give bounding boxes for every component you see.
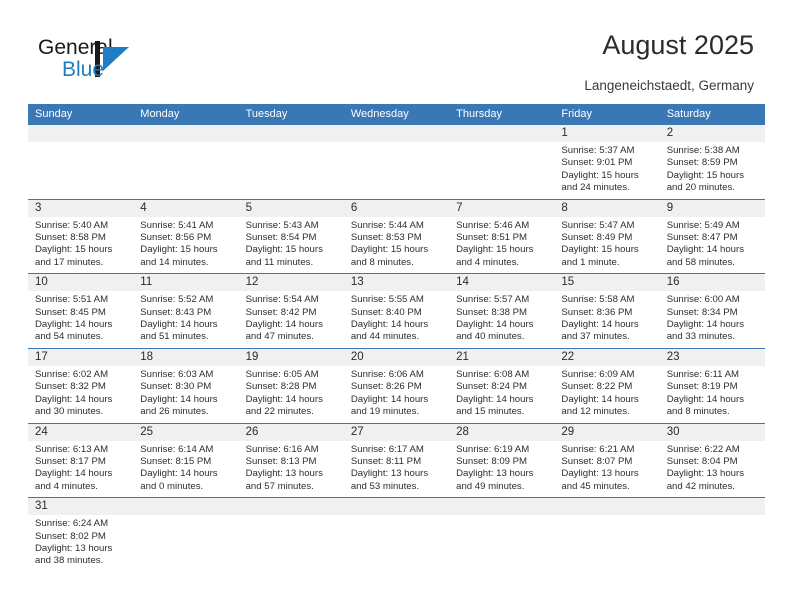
day-detail-line: Sunset: 8:40 PM [351, 307, 443, 319]
day-detail-line: Sunset: 8:04 PM [667, 456, 759, 468]
day-detail-line: Daylight: 14 hours [35, 394, 127, 406]
day-detail-line: Daylight: 14 hours [246, 394, 338, 406]
day-detail-line: Daylight: 13 hours [667, 468, 759, 480]
day-detail-line: Sunset: 8:59 PM [667, 157, 759, 169]
calendar-day-cell-empty [28, 125, 133, 199]
day-detail-line: Sunset: 8:11 PM [351, 456, 443, 468]
day-detail-line: Daylight: 14 hours [140, 468, 232, 480]
day-detail-line: and 44 minutes. [351, 331, 443, 343]
day-detail-line: Daylight: 14 hours [35, 319, 127, 331]
day-detail-line: Sunrise: 5:38 AM [667, 145, 759, 157]
day-details [133, 142, 238, 145]
day-detail-line: Sunset: 8:36 PM [561, 307, 653, 319]
day-number: 24 [28, 424, 133, 441]
calendar-day-cell[interactable]: 24Sunrise: 6:13 AMSunset: 8:17 PMDayligh… [28, 424, 133, 498]
day-detail-line: Sunset: 8:28 PM [246, 381, 338, 393]
day-details: Sunrise: 6:00 AMSunset: 8:34 PMDaylight:… [660, 291, 765, 344]
day-detail-line: Sunset: 8:19 PM [667, 381, 759, 393]
day-detail-line: Sunset: 8:54 PM [246, 232, 338, 244]
calendar-day-cell-empty [239, 498, 344, 572]
calendar-day-cell[interactable]: 13Sunrise: 5:55 AMSunset: 8:40 PMDayligh… [344, 274, 449, 348]
day-detail-line: Daylight: 15 hours [246, 244, 338, 256]
day-number [344, 498, 449, 515]
day-detail-line: Sunrise: 6:09 AM [561, 369, 653, 381]
calendar-day-cell[interactable]: 8Sunrise: 5:47 AMSunset: 8:49 PMDaylight… [554, 200, 659, 274]
day-detail-line: Daylight: 14 hours [351, 394, 443, 406]
day-number: 23 [660, 349, 765, 366]
calendar-week-row: 10Sunrise: 5:51 AMSunset: 8:45 PMDayligh… [28, 273, 765, 348]
day-number: 26 [239, 424, 344, 441]
day-detail-line: Sunset: 8:32 PM [35, 381, 127, 393]
day-details: Sunrise: 6:08 AMSunset: 8:24 PMDaylight:… [449, 366, 554, 419]
day-number: 11 [133, 274, 238, 291]
day-detail-line: and 22 minutes. [246, 406, 338, 418]
day-detail-line: Sunrise: 5:46 AM [456, 220, 548, 232]
calendar-day-cell[interactable]: 11Sunrise: 5:52 AMSunset: 8:43 PMDayligh… [133, 274, 238, 348]
calendar-day-cell-empty [133, 125, 238, 199]
day-number: 17 [28, 349, 133, 366]
calendar-day-cell[interactable]: 4Sunrise: 5:41 AMSunset: 8:56 PMDaylight… [133, 200, 238, 274]
day-detail-line: Daylight: 14 hours [246, 319, 338, 331]
day-detail-line: and 26 minutes. [140, 406, 232, 418]
day-detail-line: and 42 minutes. [667, 481, 759, 493]
day-detail-line: Daylight: 15 hours [667, 170, 759, 182]
day-details: Sunrise: 6:05 AMSunset: 8:28 PMDaylight:… [239, 366, 344, 419]
day-detail-line: Sunrise: 6:14 AM [140, 444, 232, 456]
day-detail-line: and 57 minutes. [246, 481, 338, 493]
day-number: 3 [28, 200, 133, 217]
day-detail-line: Daylight: 14 hours [140, 394, 232, 406]
day-detail-line: Daylight: 14 hours [456, 319, 548, 331]
page-title: August 2025 [602, 30, 754, 61]
day-detail-line: Sunrise: 5:55 AM [351, 294, 443, 306]
day-detail-line: Sunrise: 5:40 AM [35, 220, 127, 232]
day-number: 25 [133, 424, 238, 441]
day-detail-line: Sunrise: 6:13 AM [35, 444, 127, 456]
day-number: 4 [133, 200, 238, 217]
day-detail-line: and 30 minutes. [35, 406, 127, 418]
day-detail-line: Sunset: 8:34 PM [667, 307, 759, 319]
day-detail-line: and 1 minute. [561, 257, 653, 269]
day-detail-line: and 58 minutes. [667, 257, 759, 269]
calendar-day-cell[interactable]: 26Sunrise: 6:16 AMSunset: 8:13 PMDayligh… [239, 424, 344, 498]
calendar-day-cell[interactable]: 17Sunrise: 6:02 AMSunset: 8:32 PMDayligh… [28, 349, 133, 423]
day-number: 20 [344, 349, 449, 366]
day-detail-line: Sunrise: 5:51 AM [35, 294, 127, 306]
day-number [449, 498, 554, 515]
day-details: Sunrise: 5:38 AMSunset: 8:59 PMDaylight:… [660, 142, 765, 195]
day-details: Sunrise: 6:19 AMSunset: 8:09 PMDaylight:… [449, 441, 554, 494]
day-detail-line: and 54 minutes. [35, 331, 127, 343]
day-number [239, 125, 344, 142]
day-number [554, 498, 659, 515]
day-detail-line: Daylight: 14 hours [561, 319, 653, 331]
day-detail-line: Daylight: 14 hours [456, 394, 548, 406]
day-details [449, 515, 554, 518]
day-detail-line: Sunset: 8:38 PM [456, 307, 548, 319]
day-number: 15 [554, 274, 659, 291]
day-details: Sunrise: 6:16 AMSunset: 8:13 PMDaylight:… [239, 441, 344, 494]
brand-name-bottom: Blue [62, 58, 104, 82]
calendar-day-cell[interactable]: 1Sunrise: 5:37 AMSunset: 9:01 PMDaylight… [554, 125, 659, 199]
day-detail-line: Daylight: 15 hours [561, 244, 653, 256]
day-detail-line: Sunrise: 6:22 AM [667, 444, 759, 456]
day-number [449, 125, 554, 142]
calendar-day-cell-empty [133, 498, 238, 572]
day-detail-line: Sunset: 8:51 PM [456, 232, 548, 244]
day-detail-line: and 33 minutes. [667, 331, 759, 343]
day-number: 14 [449, 274, 554, 291]
day-detail-line: Daylight: 15 hours [456, 244, 548, 256]
day-number: 1 [554, 125, 659, 142]
day-detail-line: and 0 minutes. [140, 481, 232, 493]
weekday-header-tuesday: Tuesday [239, 104, 344, 125]
page-header: General Blue August 2025 Langeneichstaed… [0, 0, 792, 100]
day-detail-line: Sunset: 8:07 PM [561, 456, 653, 468]
calendar-week-row: 17Sunrise: 6:02 AMSunset: 8:32 PMDayligh… [28, 348, 765, 423]
day-detail-line: Sunrise: 5:47 AM [561, 220, 653, 232]
day-detail-line: Sunset: 8:15 PM [140, 456, 232, 468]
day-details: Sunrise: 5:55 AMSunset: 8:40 PMDaylight:… [344, 291, 449, 344]
day-detail-line: and 40 minutes. [456, 331, 548, 343]
day-detail-line: Sunset: 8:47 PM [667, 232, 759, 244]
day-detail-line: Sunrise: 6:16 AM [246, 444, 338, 456]
day-detail-line: Sunrise: 5:37 AM [561, 145, 653, 157]
day-detail-line: Daylight: 13 hours [456, 468, 548, 480]
day-details: Sunrise: 5:37 AMSunset: 9:01 PMDaylight:… [554, 142, 659, 195]
day-details: Sunrise: 6:09 AMSunset: 8:22 PMDaylight:… [554, 366, 659, 419]
day-details: Sunrise: 6:14 AMSunset: 8:15 PMDaylight:… [133, 441, 238, 494]
day-detail-line: and 15 minutes. [456, 406, 548, 418]
day-detail-line: Sunset: 8:24 PM [456, 381, 548, 393]
day-detail-line: Daylight: 14 hours [140, 319, 232, 331]
day-detail-line: Sunset: 8:17 PM [35, 456, 127, 468]
day-detail-line: Daylight: 14 hours [667, 319, 759, 331]
day-details: Sunrise: 5:51 AMSunset: 8:45 PMDaylight:… [28, 291, 133, 344]
calendar-day-cell[interactable]: 28Sunrise: 6:19 AMSunset: 8:09 PMDayligh… [449, 424, 554, 498]
page-subtitle: Langeneichstaedt, Germany [584, 78, 754, 93]
calendar-week-row: 1Sunrise: 5:37 AMSunset: 9:01 PMDaylight… [28, 125, 765, 199]
day-detail-line: and 19 minutes. [351, 406, 443, 418]
day-details [239, 142, 344, 145]
day-details: Sunrise: 5:47 AMSunset: 8:49 PMDaylight:… [554, 217, 659, 270]
weekday-header-saturday: Saturday [660, 104, 765, 125]
day-detail-line: Sunrise: 5:49 AM [667, 220, 759, 232]
calendar-page: General Blue August 2025 Langeneichstaed… [0, 0, 792, 612]
day-details: Sunrise: 6:02 AMSunset: 8:32 PMDaylight:… [28, 366, 133, 419]
day-detail-line: Sunset: 8:56 PM [140, 232, 232, 244]
calendar-weeks: 1Sunrise: 5:37 AMSunset: 9:01 PMDaylight… [28, 125, 765, 572]
day-detail-line: Sunrise: 6:19 AM [456, 444, 548, 456]
day-number: 13 [344, 274, 449, 291]
day-detail-line: Sunrise: 6:00 AM [667, 294, 759, 306]
day-detail-line: Sunset: 8:49 PM [561, 232, 653, 244]
calendar-day-cell[interactable]: 3Sunrise: 5:40 AMSunset: 8:58 PMDaylight… [28, 200, 133, 274]
day-number: 22 [554, 349, 659, 366]
day-detail-line: Sunrise: 6:17 AM [351, 444, 443, 456]
day-number: 7 [449, 200, 554, 217]
calendar-day-cell[interactable]: 25Sunrise: 6:14 AMSunset: 8:15 PMDayligh… [133, 424, 238, 498]
weekday-header-row: SundayMondayTuesdayWednesdayThursdayFrid… [28, 104, 765, 125]
calendar-day-cell-empty [660, 498, 765, 572]
day-detail-line: Sunrise: 6:21 AM [561, 444, 653, 456]
calendar-day-cell[interactable]: 30Sunrise: 6:22 AMSunset: 8:04 PMDayligh… [660, 424, 765, 498]
day-detail-line: Sunrise: 5:41 AM [140, 220, 232, 232]
calendar-day-cell-empty [239, 125, 344, 199]
day-number [28, 125, 133, 142]
calendar-week-row: 31Sunrise: 6:24 AMSunset: 8:02 PMDayligh… [28, 497, 765, 572]
day-detail-line: Daylight: 15 hours [561, 170, 653, 182]
day-detail-line: Sunrise: 6:24 AM [35, 518, 127, 530]
day-detail-line: and 49 minutes. [456, 481, 548, 493]
day-detail-line: Sunrise: 6:08 AM [456, 369, 548, 381]
day-number: 16 [660, 274, 765, 291]
day-detail-line: and 11 minutes. [246, 257, 338, 269]
day-detail-line: Sunset: 8:26 PM [351, 381, 443, 393]
calendar-day-cell[interactable]: 10Sunrise: 5:51 AMSunset: 8:45 PMDayligh… [28, 274, 133, 348]
day-detail-line: Sunset: 8:09 PM [456, 456, 548, 468]
day-detail-line: Daylight: 14 hours [351, 319, 443, 331]
day-detail-line: Sunrise: 6:02 AM [35, 369, 127, 381]
calendar-day-cell[interactable]: 6Sunrise: 5:44 AMSunset: 8:53 PMDaylight… [344, 200, 449, 274]
day-detail-line: Sunset: 8:45 PM [35, 307, 127, 319]
day-details [133, 515, 238, 518]
day-detail-line: Daylight: 13 hours [351, 468, 443, 480]
calendar-day-cell[interactable]: 15Sunrise: 5:58 AMSunset: 8:36 PMDayligh… [554, 274, 659, 348]
day-number: 29 [554, 424, 659, 441]
day-detail-line: Sunrise: 6:06 AM [351, 369, 443, 381]
calendar-day-cell-empty [344, 498, 449, 572]
day-detail-line: Daylight: 14 hours [35, 468, 127, 480]
weekday-header-monday: Monday [133, 104, 238, 125]
day-detail-line: and 20 minutes. [667, 182, 759, 194]
day-number: 12 [239, 274, 344, 291]
day-detail-line: and 45 minutes. [561, 481, 653, 493]
day-detail-line: Daylight: 14 hours [561, 394, 653, 406]
day-number: 9 [660, 200, 765, 217]
day-detail-line: Daylight: 15 hours [140, 244, 232, 256]
day-detail-line: Daylight: 14 hours [667, 244, 759, 256]
day-detail-line: Sunrise: 5:54 AM [246, 294, 338, 306]
calendar-day-cell[interactable]: 23Sunrise: 6:11 AMSunset: 8:19 PMDayligh… [660, 349, 765, 423]
day-detail-line: Sunset: 8:53 PM [351, 232, 443, 244]
calendar-day-cell[interactable]: 19Sunrise: 6:05 AMSunset: 8:28 PMDayligh… [239, 349, 344, 423]
calendar-day-cell[interactable]: 5Sunrise: 5:43 AMSunset: 8:54 PMDaylight… [239, 200, 344, 274]
day-detail-line: Sunset: 8:42 PM [246, 307, 338, 319]
day-detail-line: Sunrise: 5:44 AM [351, 220, 443, 232]
day-details: Sunrise: 6:06 AMSunset: 8:26 PMDaylight:… [344, 366, 449, 419]
day-details: Sunrise: 5:57 AMSunset: 8:38 PMDaylight:… [449, 291, 554, 344]
day-detail-line: Daylight: 13 hours [561, 468, 653, 480]
day-details: Sunrise: 6:24 AMSunset: 8:02 PMDaylight:… [28, 515, 133, 568]
day-detail-line: Sunset: 8:43 PM [140, 307, 232, 319]
day-number: 5 [239, 200, 344, 217]
day-detail-line: Sunset: 8:30 PM [140, 381, 232, 393]
day-details: Sunrise: 5:58 AMSunset: 8:36 PMDaylight:… [554, 291, 659, 344]
day-detail-line: and 53 minutes. [351, 481, 443, 493]
day-number [133, 498, 238, 515]
day-number [660, 498, 765, 515]
calendar-day-cell[interactable]: 29Sunrise: 6:21 AMSunset: 8:07 PMDayligh… [554, 424, 659, 498]
calendar-day-cell[interactable]: 7Sunrise: 5:46 AMSunset: 8:51 PMDaylight… [449, 200, 554, 274]
day-details: Sunrise: 5:44 AMSunset: 8:53 PMDaylight:… [344, 217, 449, 270]
day-detail-line: and 24 minutes. [561, 182, 653, 194]
day-number: 28 [449, 424, 554, 441]
day-detail-line: Daylight: 15 hours [35, 244, 127, 256]
day-details: Sunrise: 6:13 AMSunset: 8:17 PMDaylight:… [28, 441, 133, 494]
calendar-day-cell[interactable]: 31Sunrise: 6:24 AMSunset: 8:02 PMDayligh… [28, 498, 133, 572]
day-number: 21 [449, 349, 554, 366]
day-detail-line: and 8 minutes. [351, 257, 443, 269]
day-number [344, 125, 449, 142]
day-number: 18 [133, 349, 238, 366]
calendar-day-cell[interactable]: 22Sunrise: 6:09 AMSunset: 8:22 PMDayligh… [554, 349, 659, 423]
day-detail-line: Sunset: 8:58 PM [35, 232, 127, 244]
calendar-week-row: 3Sunrise: 5:40 AMSunset: 8:58 PMDaylight… [28, 199, 765, 274]
day-details: Sunrise: 5:49 AMSunset: 8:47 PMDaylight:… [660, 217, 765, 270]
day-details [344, 515, 449, 518]
day-detail-line: Sunrise: 5:52 AM [140, 294, 232, 306]
day-details: Sunrise: 6:03 AMSunset: 8:30 PMDaylight:… [133, 366, 238, 419]
day-number: 19 [239, 349, 344, 366]
day-number: 2 [660, 125, 765, 142]
day-details: Sunrise: 6:21 AMSunset: 8:07 PMDaylight:… [554, 441, 659, 494]
day-details: Sunrise: 5:41 AMSunset: 8:56 PMDaylight:… [133, 217, 238, 270]
day-number [133, 125, 238, 142]
day-number: 30 [660, 424, 765, 441]
weekday-header-sunday: Sunday [28, 104, 133, 125]
day-detail-line: Sunrise: 5:58 AM [561, 294, 653, 306]
day-number: 8 [554, 200, 659, 217]
day-details: Sunrise: 6:11 AMSunset: 8:19 PMDaylight:… [660, 366, 765, 419]
day-detail-line: and 8 minutes. [667, 406, 759, 418]
weekday-header-friday: Friday [554, 104, 659, 125]
weekday-header-thursday: Thursday [449, 104, 554, 125]
day-detail-line: and 17 minutes. [35, 257, 127, 269]
day-detail-line: Sunset: 8:22 PM [561, 381, 653, 393]
day-detail-line: and 14 minutes. [140, 257, 232, 269]
brand-logo[interactable]: General Blue [38, 36, 168, 88]
day-details: Sunrise: 5:52 AMSunset: 8:43 PMDaylight:… [133, 291, 238, 344]
day-number: 10 [28, 274, 133, 291]
calendar-day-cell[interactable]: 12Sunrise: 5:54 AMSunset: 8:42 PMDayligh… [239, 274, 344, 348]
day-detail-line: and 4 minutes. [35, 481, 127, 493]
calendar-day-cell-empty [554, 498, 659, 572]
day-details: Sunrise: 6:22 AMSunset: 8:04 PMDaylight:… [660, 441, 765, 494]
calendar-day-cell[interactable]: 20Sunrise: 6:06 AMSunset: 8:26 PMDayligh… [344, 349, 449, 423]
day-detail-line: Daylight: 13 hours [246, 468, 338, 480]
day-detail-line: and 47 minutes. [246, 331, 338, 343]
day-number [239, 498, 344, 515]
day-details: Sunrise: 6:17 AMSunset: 8:11 PMDaylight:… [344, 441, 449, 494]
day-detail-line: Sunset: 8:13 PM [246, 456, 338, 468]
day-details: Sunrise: 5:54 AMSunset: 8:42 PMDaylight:… [239, 291, 344, 344]
calendar-day-cell[interactable]: 16Sunrise: 6:00 AMSunset: 8:34 PMDayligh… [660, 274, 765, 348]
day-details [239, 515, 344, 518]
day-number: 31 [28, 498, 133, 515]
calendar-day-cell-empty [344, 125, 449, 199]
day-number: 6 [344, 200, 449, 217]
day-detail-line: Daylight: 15 hours [351, 244, 443, 256]
day-detail-line: and 12 minutes. [561, 406, 653, 418]
day-details [554, 515, 659, 518]
calendar-day-cell[interactable]: 27Sunrise: 6:17 AMSunset: 8:11 PMDayligh… [344, 424, 449, 498]
day-detail-line: and 4 minutes. [456, 257, 548, 269]
day-detail-line: Sunrise: 6:11 AM [667, 369, 759, 381]
calendar-day-cell-empty [449, 125, 554, 199]
day-detail-line: Sunrise: 6:05 AM [246, 369, 338, 381]
day-detail-line: Sunset: 8:02 PM [35, 531, 127, 543]
day-details [344, 142, 449, 145]
day-detail-line: and 38 minutes. [35, 555, 127, 567]
day-details: Sunrise: 5:40 AMSunset: 8:58 PMDaylight:… [28, 217, 133, 270]
day-detail-line: and 37 minutes. [561, 331, 653, 343]
day-detail-line: Sunrise: 5:43 AM [246, 220, 338, 232]
calendar-day-cell-empty [449, 498, 554, 572]
calendar-day-cell[interactable]: 21Sunrise: 6:08 AMSunset: 8:24 PMDayligh… [449, 349, 554, 423]
day-detail-line: Sunrise: 5:57 AM [456, 294, 548, 306]
calendar-week-row: 24Sunrise: 6:13 AMSunset: 8:17 PMDayligh… [28, 423, 765, 498]
day-detail-line: and 51 minutes. [140, 331, 232, 343]
day-detail-line: Sunrise: 6:03 AM [140, 369, 232, 381]
calendar-day-cell[interactable]: 2Sunrise: 5:38 AMSunset: 8:59 PMDaylight… [660, 125, 765, 199]
calendar-day-cell[interactable]: 18Sunrise: 6:03 AMSunset: 8:30 PMDayligh… [133, 349, 238, 423]
day-number: 27 [344, 424, 449, 441]
day-details: Sunrise: 5:43 AMSunset: 8:54 PMDaylight:… [239, 217, 344, 270]
calendar-day-cell[interactable]: 9Sunrise: 5:49 AMSunset: 8:47 PMDaylight… [660, 200, 765, 274]
day-details: Sunrise: 5:46 AMSunset: 8:51 PMDaylight:… [449, 217, 554, 270]
day-detail-line: Daylight: 13 hours [35, 543, 127, 555]
day-detail-line: Daylight: 14 hours [667, 394, 759, 406]
day-detail-line: Sunset: 9:01 PM [561, 157, 653, 169]
calendar-grid: SundayMondayTuesdayWednesdayThursdayFrid… [28, 104, 765, 572]
day-details [449, 142, 554, 145]
calendar-day-cell[interactable]: 14Sunrise: 5:57 AMSunset: 8:38 PMDayligh… [449, 274, 554, 348]
day-details [28, 142, 133, 145]
day-details [660, 515, 765, 518]
weekday-header-wednesday: Wednesday [344, 104, 449, 125]
